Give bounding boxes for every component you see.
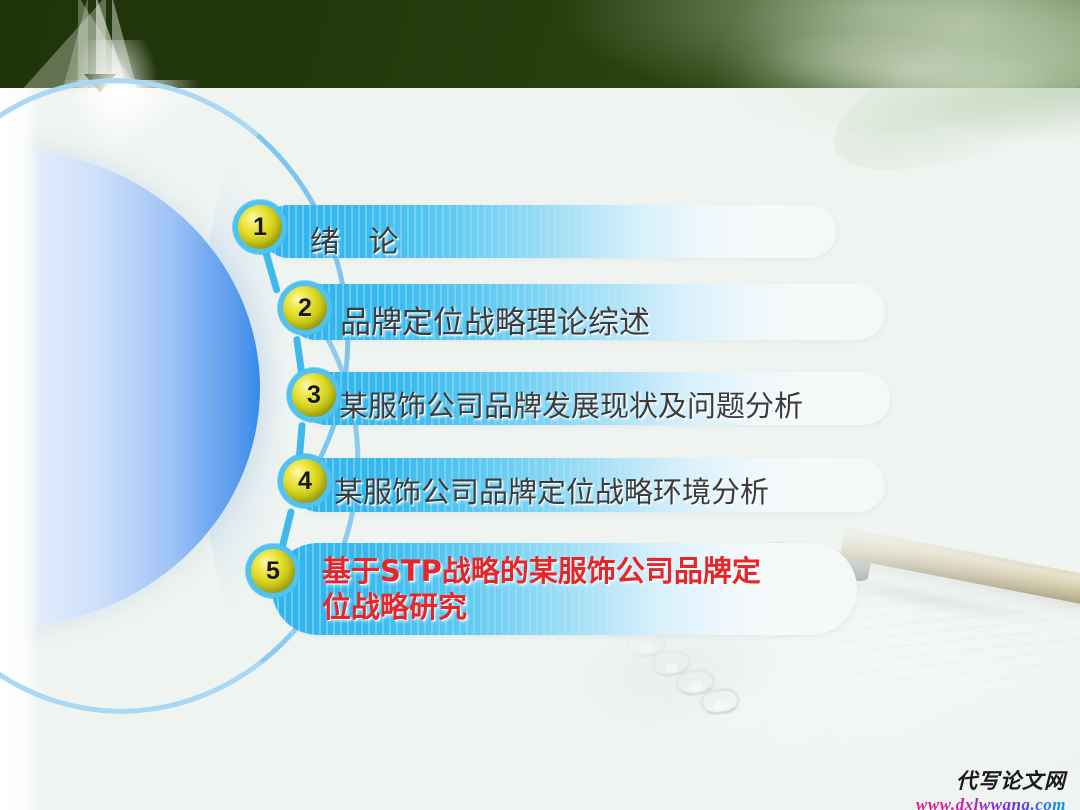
banner-swirl-decoration	[925, 18, 1080, 163]
agenda-number-4: 4	[298, 469, 312, 494]
banner-swirl-decoration	[811, 0, 1080, 210]
connector-2-3	[293, 336, 306, 381]
agenda-badge-4[interactable]: 4	[283, 459, 327, 503]
presentation-slide: 1 绪 论 2 品牌定位战略理论综述 3 某服饰公司品牌发展现状及问题分析 4 …	[0, 0, 1080, 810]
banner-glow-decoration	[60, 80, 200, 140]
agenda-number-3: 3	[307, 383, 321, 408]
agenda-badge-2[interactable]: 2	[283, 286, 327, 330]
agenda-number-5: 5	[266, 559, 280, 584]
agenda-label-5: 基于STP战略的某服饰公司品牌定 位战略研究	[322, 553, 761, 625]
watermark: 代写论文网 www.dxlwwang.com	[916, 765, 1066, 810]
banner-swirl-decoration	[757, 19, 1063, 124]
agenda-number-1: 1	[253, 215, 267, 240]
agenda-label-4: 某服饰公司品牌定位战略环境分析	[334, 469, 769, 511]
agenda-number-2: 2	[298, 296, 312, 321]
watermark-brand: 代写论文网	[916, 765, 1066, 795]
agenda-badge-1[interactable]: 1	[238, 205, 282, 249]
agenda-badge-3[interactable]: 3	[292, 373, 336, 417]
agenda-label-2: 品牌定位战略理论综述	[340, 297, 650, 342]
agenda-badge-5[interactable]: 5	[251, 549, 295, 593]
left-edge-highlight	[0, 88, 40, 810]
agenda-label-3: 某服饰公司品牌发展现状及问题分析	[339, 383, 803, 425]
agenda-label-1: 绪 论	[310, 217, 399, 261]
banner-swirl-decoration	[680, 0, 1080, 179]
slide-header-banner	[0, 0, 1080, 88]
watermark-url: www.dxlwwang.com	[916, 795, 1066, 810]
